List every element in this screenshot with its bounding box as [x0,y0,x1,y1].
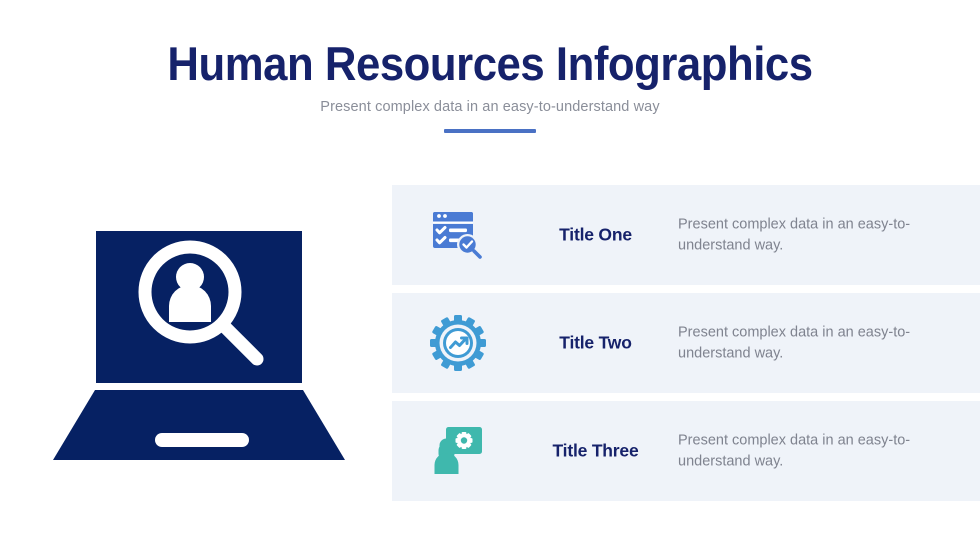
row-title: Title One [518,225,673,246]
page-title: Human Resources Infographics [34,38,945,90]
row-description: Present complex data in an easy-to-under… [678,214,923,255]
row-description: Present complex data in an easy-to-under… [678,322,923,363]
page-subtitle: Present complex data in an easy-to-under… [0,99,980,115]
list-item[interactable]: Title Two Present complex data in an eas… [392,293,980,393]
laptop-base [53,390,345,460]
list-item[interactable]: Title Three Present complex data in an e… [392,401,980,501]
header: Human Resources Infographics Present com… [0,0,980,150]
laptop-person-search-illustration [45,220,360,475]
row-title: Title Three [518,441,673,462]
gear-growth-chart-icon [428,313,488,373]
person-presentation-gear-icon [428,421,488,481]
header-divider [444,129,536,133]
laptop-trackpad [155,433,249,447]
checklist-window-search-icon [428,205,488,265]
feature-rows-list: Title One Present complex data in an eas… [392,185,980,509]
list-item[interactable]: Title One Present complex data in an eas… [392,185,980,285]
row-title: Title Two [518,333,673,354]
row-description: Present complex data in an easy-to-under… [678,430,923,471]
